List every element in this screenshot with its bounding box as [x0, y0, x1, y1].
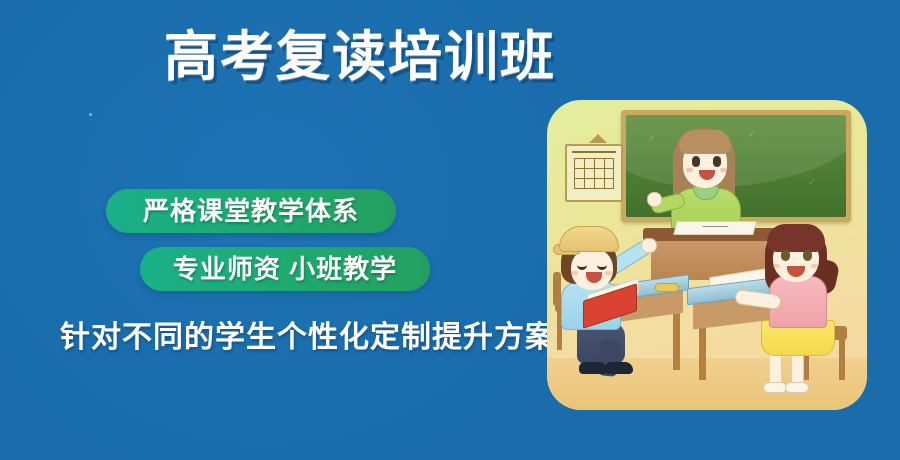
wall-calendar	[565, 144, 623, 202]
calendar-header-bar	[572, 151, 616, 153]
subtitle-line: 针对不同的学生个性化定制提升方案	[60, 312, 540, 356]
boy-raised-hand	[641, 238, 657, 253]
teacher-cheek-left	[686, 168, 693, 172]
girl-cheek-left	[773, 264, 780, 268]
teacher-hand	[647, 192, 662, 207]
boy-cap	[559, 226, 619, 252]
teacher-cheek-right	[720, 168, 727, 172]
chalk-mark-icon: ✓	[648, 133, 656, 144]
boy-shoe-left	[579, 362, 607, 374]
illustration-scene: ✓ ✓ ✓	[547, 100, 867, 410]
page-title: 高考复读培训班	[150, 26, 570, 88]
girl-shoe-left	[763, 382, 787, 393]
calendar-grid	[574, 158, 614, 188]
girl-eye-left	[781, 250, 790, 261]
boy-cheek-right	[605, 271, 612, 275]
chalk-mark-icon: ✓	[808, 177, 816, 188]
teacher-bangs	[679, 130, 731, 154]
teacher-desk-paper	[673, 221, 756, 235]
boy-shoe-right	[605, 362, 633, 374]
banner-root: 高考复读培训班 严格课堂教学体系 专业师资 小班教学 针对不同的学生个性化定制提…	[0, 0, 900, 460]
boy-desk-slot	[655, 283, 679, 292]
girl-bangs	[767, 224, 825, 252]
decor-speck	[89, 113, 92, 116]
calendar-hook-icon	[589, 134, 607, 143]
feature-tag-2[interactable]: 专业师资 小班教学	[140, 247, 430, 291]
girl-chair-leg	[839, 338, 845, 380]
girl-eye-right	[803, 250, 812, 261]
boy-cheek-left	[571, 271, 578, 275]
teacher-eye-right	[713, 156, 721, 167]
chalk-mark-icon: ✓	[748, 129, 756, 140]
feature-tag-1[interactable]: 严格课堂教学体系	[106, 189, 396, 233]
girl-cheek-right	[811, 264, 818, 268]
teacher-eye-left	[692, 156, 700, 167]
classroom-illustration: ✓ ✓ ✓	[547, 100, 867, 410]
boy-desk-leg	[673, 306, 680, 370]
girl-shoe-right	[785, 382, 809, 393]
